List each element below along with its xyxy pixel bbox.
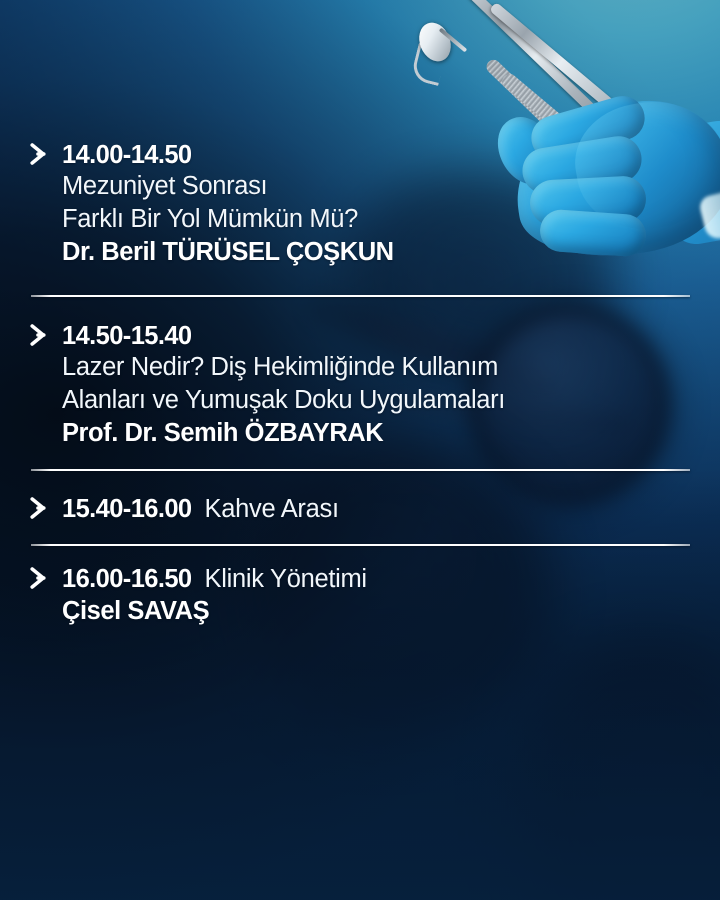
schedule-item-2-body: Lazer Nedir? Diş Hekimliğinde Kullanım A… <box>62 351 690 450</box>
divider-1 <box>31 295 690 297</box>
schedule-item-4-time: 16.00-16.50 <box>62 566 192 593</box>
schedule-item-1-body: Mezuniyet Sonrası Farklı Bir Yol Mümkün … <box>62 170 690 269</box>
schedule-item-4-header: 16.00-16.50 Klinik Yönetimi <box>30 565 690 594</box>
schedule-item-4-title: Klinik Yönetimi <box>205 565 367 594</box>
chevron-right-icon <box>30 143 49 165</box>
schedule-item-3-title: Kahve Arası <box>205 495 339 524</box>
schedule-item-4[interactable]: 16.00-16.50 Klinik Yönetimi Çisel SAVAŞ <box>30 565 690 628</box>
schedule-item-3-time: 15.40-16.00 <box>62 496 192 523</box>
schedule-item-2-title-line-2: Alanları ve Yumuşak Doku Uygulamaları <box>62 384 690 417</box>
schedule-item-2-title-line-1: Lazer Nedir? Diş Hekimliğinde Kullanım <box>62 351 690 384</box>
schedule-item-1-title-line-1: Mezuniyet Sonrası <box>62 170 690 203</box>
chevron-right-icon <box>30 567 49 589</box>
divider-3 <box>31 544 690 546</box>
schedule-item-3-header: 15.40-16.00 Kahve Arası <box>30 495 690 524</box>
schedule-item-1-title-line-2: Farklı Bir Yol Mümkün Mü? <box>62 203 690 236</box>
chevron-right-icon <box>30 324 49 346</box>
schedule-item-1-speaker: Dr. Beril TÜRÜSEL ÇOŞKUN <box>62 236 690 269</box>
schedule-item-2-speaker: Prof. Dr. Semih ÖZBAYRAK <box>62 417 690 450</box>
chevron-right-icon <box>30 497 49 519</box>
session-schedule-poster: 14.00-14.50 Mezuniyet Sonrası Farklı Bir… <box>0 0 720 900</box>
schedule-item-2[interactable]: 14.50-15.40 Lazer Nedir? Diş Hekimliğind… <box>30 322 690 450</box>
schedule-item-1[interactable]: 14.00-14.50 Mezuniyet Sonrası Farklı Bir… <box>30 141 690 269</box>
schedule-item-4-body: Çisel SAVAŞ <box>62 595 690 628</box>
schedule-item-2-time: 14.50-15.40 <box>62 323 192 350</box>
schedule-item-1-time: 14.00-14.50 <box>62 142 192 169</box>
divider-2 <box>31 469 690 471</box>
schedule-item-1-header: 14.00-14.50 <box>30 141 690 169</box>
schedule-item-2-header: 14.50-15.40 <box>30 322 690 350</box>
schedule-item-4-speaker: Çisel SAVAŞ <box>62 595 690 628</box>
schedule-item-3[interactable]: 15.40-16.00 Kahve Arası <box>30 495 690 524</box>
